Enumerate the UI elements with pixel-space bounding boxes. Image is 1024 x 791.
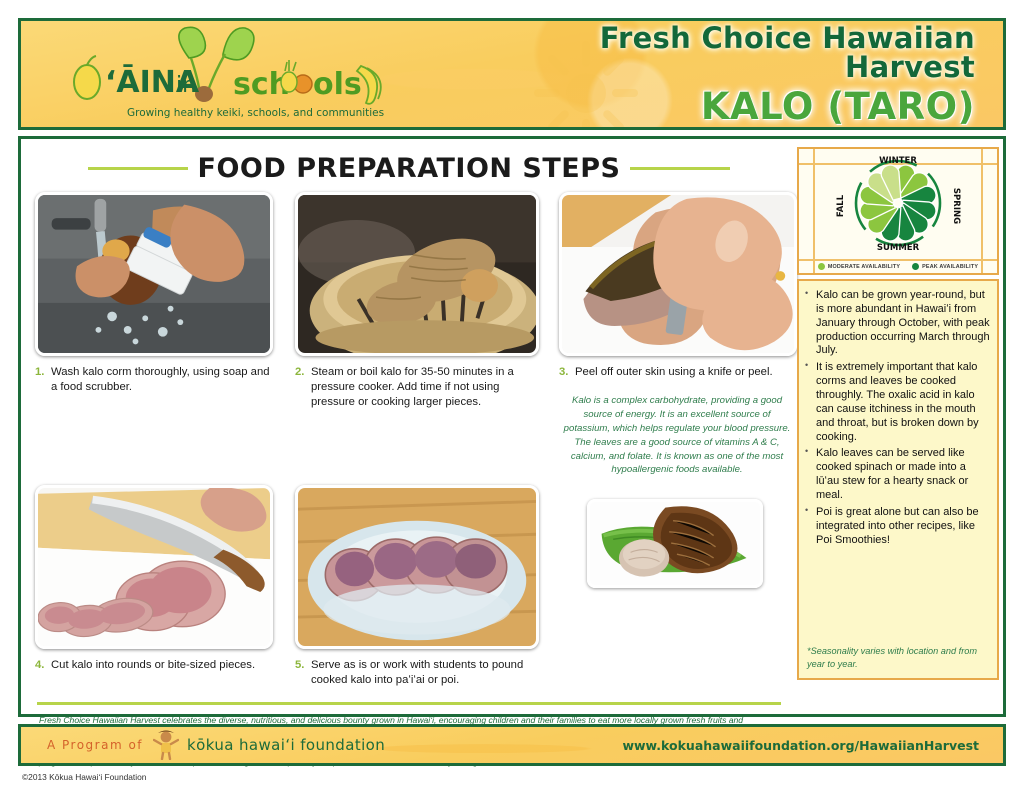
step-3-text: Peel off outer skin using a knife or pee…	[575, 365, 773, 380]
step-3-number: 3.	[559, 365, 575, 380]
steps-row-2: 4. Cut kalo into rounds or bite-sized pi…	[29, 485, 789, 688]
steps-column: FOOD PREPARATION STEPS	[21, 139, 797, 714]
step-2: 2. Steam or boil kalo for 35-50 minutes …	[289, 192, 547, 477]
step-3: 3. Peel off outer skin using a knife or …	[553, 192, 799, 477]
paiai-cell	[553, 485, 799, 688]
kalo-facts-list: Kalo can be grown year-round, but is mor…	[803, 289, 991, 547]
legend-moderate-swatch	[818, 263, 825, 270]
section-heading: FOOD PREPARATION STEPS	[29, 153, 789, 184]
step-4-number: 4.	[35, 658, 51, 673]
grid-line-bottom	[799, 259, 997, 261]
season-label-summer: SUMMER	[877, 243, 920, 253]
step-5: 5. Serve as is or work with students to …	[289, 485, 547, 688]
seasonality-wheel: WINTER SPRING SUMMER FALL	[832, 151, 964, 255]
nutrition-note: Kalo is a complex carbohydrate, providin…	[559, 394, 795, 477]
season-label-spring: SPRING	[951, 188, 961, 224]
washing-kalo-corm-photo	[35, 192, 273, 356]
step-4: 4. Cut kalo into rounds or bite-sized pi…	[29, 485, 283, 688]
sidebar: WINTER SPRING SUMMER FALL MODERATE AVAIL…	[797, 139, 1009, 714]
legend-moderate-label: MODERATE AVAILABILITY	[828, 264, 900, 270]
heading-rule-right	[630, 167, 730, 170]
step-5-text: Serve as is or work with students to pou…	[311, 658, 533, 688]
step-4-caption: 4. Cut kalo into rounds or bite-sized pi…	[35, 658, 273, 673]
logo-tagline-text: Growing healthy keiki, schools, and comm…	[127, 107, 384, 119]
list-item: Kalo leaves can be served like cooked sp…	[803, 447, 991, 502]
step-1-text: Wash kalo corm thoroughly, using soap an…	[51, 365, 273, 395]
grid-line-left	[813, 149, 815, 273]
header-title-block: Fresh Choice Hawaiian Harvest KALO (TARO…	[491, 24, 1003, 125]
kokua-foundation-name[interactable]: kōkua hawaiʻi foundation	[187, 736, 385, 754]
slicing-kalo-rounds-photo	[35, 485, 273, 649]
legend-peak-swatch	[912, 263, 919, 270]
page-header: ʻĀINA in sch ols Growing healthy keiki, …	[18, 18, 1006, 130]
kokua-child-icon	[153, 730, 179, 760]
footer-rule	[37, 702, 781, 705]
steps-row-1: 1. Wash kalo corm thoroughly, using soap…	[29, 192, 789, 477]
aina-in-schools-logo[interactable]: ʻĀINA in sch ols Growing healthy keiki, …	[21, 18, 491, 130]
page-title: Fresh Choice Hawaiian Harvest	[491, 24, 975, 82]
paiai-and-kalo-corm-on-ti-leaf-photo	[587, 499, 763, 588]
step-3-caption: 3. Peel off outer skin using a knife or …	[559, 365, 797, 380]
step-5-number: 5.	[295, 658, 311, 688]
grid-line-right	[981, 149, 983, 273]
list-item: It is extremely important that kalo corm…	[803, 361, 991, 444]
kalo-rounds-on-plate-photo	[295, 485, 539, 649]
svg-text:in: in	[176, 73, 196, 98]
section-title: FOOD PREPARATION STEPS	[198, 153, 621, 184]
step-1-number: 1.	[35, 365, 51, 395]
legend-peak: PEAK AVAILABILITY	[912, 263, 978, 270]
step-2-text: Steam or boil kalo for 35-50 minutes in …	[311, 365, 533, 410]
step-4-text: Cut kalo into rounds or bite-sized piece…	[51, 658, 255, 673]
step-1-caption: 1. Wash kalo corm thoroughly, using soap…	[35, 365, 273, 395]
logo-artwork: ʻĀINA in sch ols Growing healthy keiki, …	[71, 24, 401, 124]
heading-rule-left	[88, 167, 188, 170]
page-footer: A Program of kōkua hawaiʻi foundation ww…	[18, 724, 1006, 766]
step-2-number: 2.	[295, 365, 311, 410]
legend-peak-label: PEAK AVAILABILITY	[922, 264, 978, 270]
page-subtitle: KALO (TARO)	[491, 88, 975, 125]
step-2-caption: 2. Steam or boil kalo for 35-50 minutes …	[295, 365, 533, 410]
list-item: Kalo can be grown year-round, but is mor…	[803, 289, 991, 358]
kalo-facts-box: Kalo can be grown year-round, but is mor…	[797, 279, 999, 680]
list-item: Poi is great alone but can also be integ…	[803, 506, 991, 548]
poster-page: ʻĀINA in sch ols Growing healthy keiki, …	[0, 0, 1024, 791]
step-1: 1. Wash kalo corm thoroughly, using soap…	[29, 192, 283, 477]
seasonality-wheel-box: WINTER SPRING SUMMER FALL MODERATE AVAIL…	[797, 147, 999, 275]
season-label-winter: WINTER	[879, 156, 917, 166]
seasonality-wheel-chart: WINTER SPRING SUMMER FALL	[832, 151, 964, 255]
program-of-label: A Program of	[47, 738, 143, 752]
seasonality-legend: MODERATE AVAILABILITY PEAK AVAILABILITY	[799, 263, 997, 270]
copyright-text: ©2013 Kōkua Hawaiʻi Foundation	[22, 772, 1006, 782]
footer-url[interactable]: www.kokuahawaiifoundation.org/HawaiianHa…	[622, 738, 979, 753]
seasonality-disclaimer: *Seasonality varies with location and fr…	[807, 645, 991, 670]
steaming-kalo-bamboo-steamer-photo	[295, 192, 539, 356]
peeling-kalo-skin-photo	[559, 192, 797, 356]
svg-text:ols: ols	[313, 67, 362, 102]
legend-moderate: MODERATE AVAILABILITY	[818, 263, 900, 270]
season-label-fall: FALL	[836, 194, 846, 217]
step-5-caption: 5. Serve as is or work with students to …	[295, 658, 533, 688]
content-panel: FOOD PREPARATION STEPS	[18, 136, 1006, 717]
